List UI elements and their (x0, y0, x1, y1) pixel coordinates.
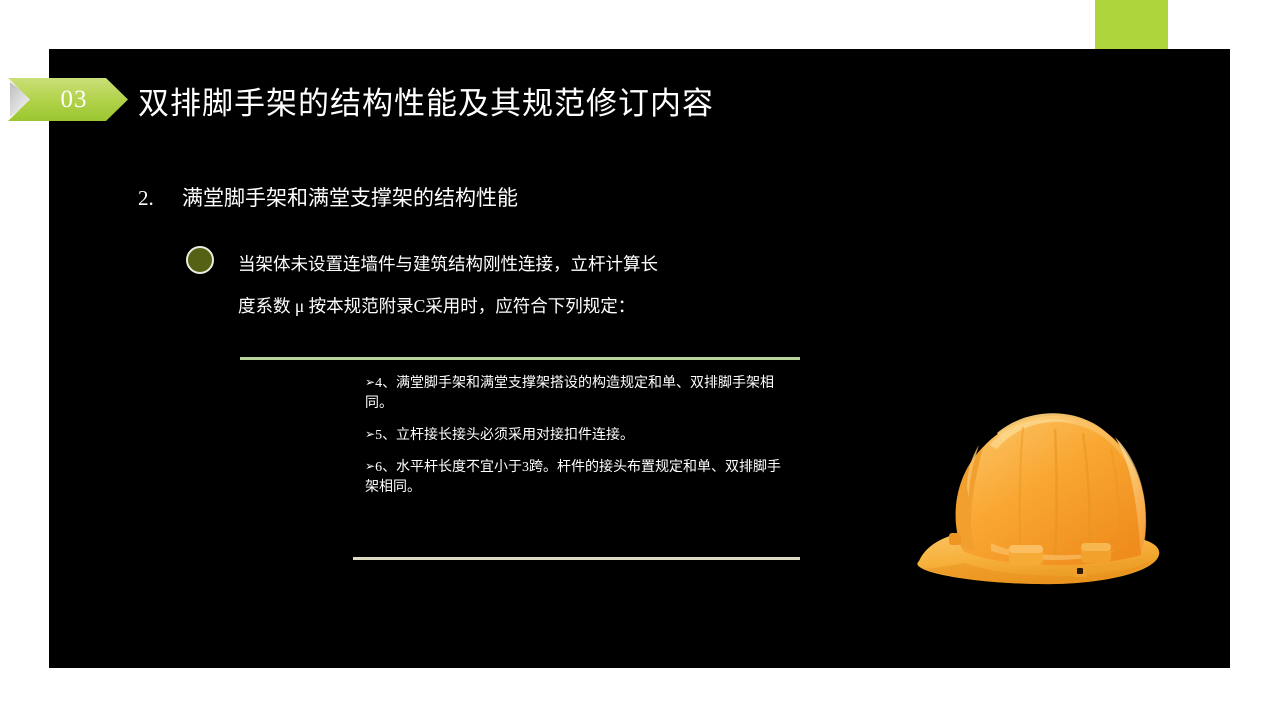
list-item: ➢6、水平杆长度不宜小于3跨。杆件的接头布置规定和单、双排脚手架相同。 (365, 456, 795, 498)
divider-top (240, 357, 800, 360)
primary-bullet-text: 当架体未设置连墙件与建筑结构刚性连接，立杆计算长 度系数 μ 按本规范附录C采用… (238, 243, 786, 327)
hard-hat-illustration (905, 393, 1173, 593)
list-item: ➢5、立杆接长接头必须采用对接扣件连接。 (365, 424, 795, 446)
section-heading-text: 满堂脚手架和满堂支撑架的结构性能 (182, 182, 518, 212)
divider-bottom (353, 557, 800, 560)
list-item-text: 6、水平杆长度不宜小于3跨。杆件的接头布置规定和单、双排脚手架相同。 (365, 460, 781, 495)
list-item-text: 4、满堂脚手架和满堂支撑架搭设的构造规定和单、双排脚手架相同。 (365, 376, 774, 411)
bullet-line-2: 度系数 μ 按本规范附录C采用时，应符合下列规定： (238, 285, 786, 327)
list-item: ➢4、满堂脚手架和满堂支撑架搭设的构造规定和单、双排脚手架相同。 (365, 372, 795, 414)
hard-hat-icon (905, 393, 1173, 593)
arrow-bullet-icon: ➢ (365, 427, 375, 441)
sub-list: ➢4、满堂脚手架和满堂支撑架搭设的构造规定和单、双排脚手架相同。 ➢5、立杆接长… (365, 372, 795, 498)
section-heading: 2. 满堂脚手架和满堂支撑架的结构性能 (138, 182, 518, 212)
bullet-line-1: 当架体未设置连墙件与建筑结构刚性连接，立杆计算长 (238, 254, 658, 274)
section-index-badge: 03 (8, 78, 128, 121)
primary-bullet: 当架体未设置连墙件与建筑结构刚性连接，立杆计算长 度系数 μ 按本规范附录C采用… (186, 243, 786, 327)
circle-bullet-icon (186, 246, 214, 274)
slide-canvas: 03 双排脚手架的结构性能及其规范修订内容 2. 满堂脚手架和满堂支撑架的结构性… (0, 0, 1280, 720)
arrow-bullet-icon: ➢ (365, 375, 375, 389)
section-number: 2. (138, 186, 182, 211)
arrow-bullet-icon: ➢ (365, 459, 375, 473)
page-title: 双排脚手架的结构性能及其规范修订内容 (138, 78, 714, 122)
badge-number: 03 (8, 78, 128, 121)
list-item-text: 5、立杆接长接头必须采用对接扣件连接。 (375, 428, 634, 443)
